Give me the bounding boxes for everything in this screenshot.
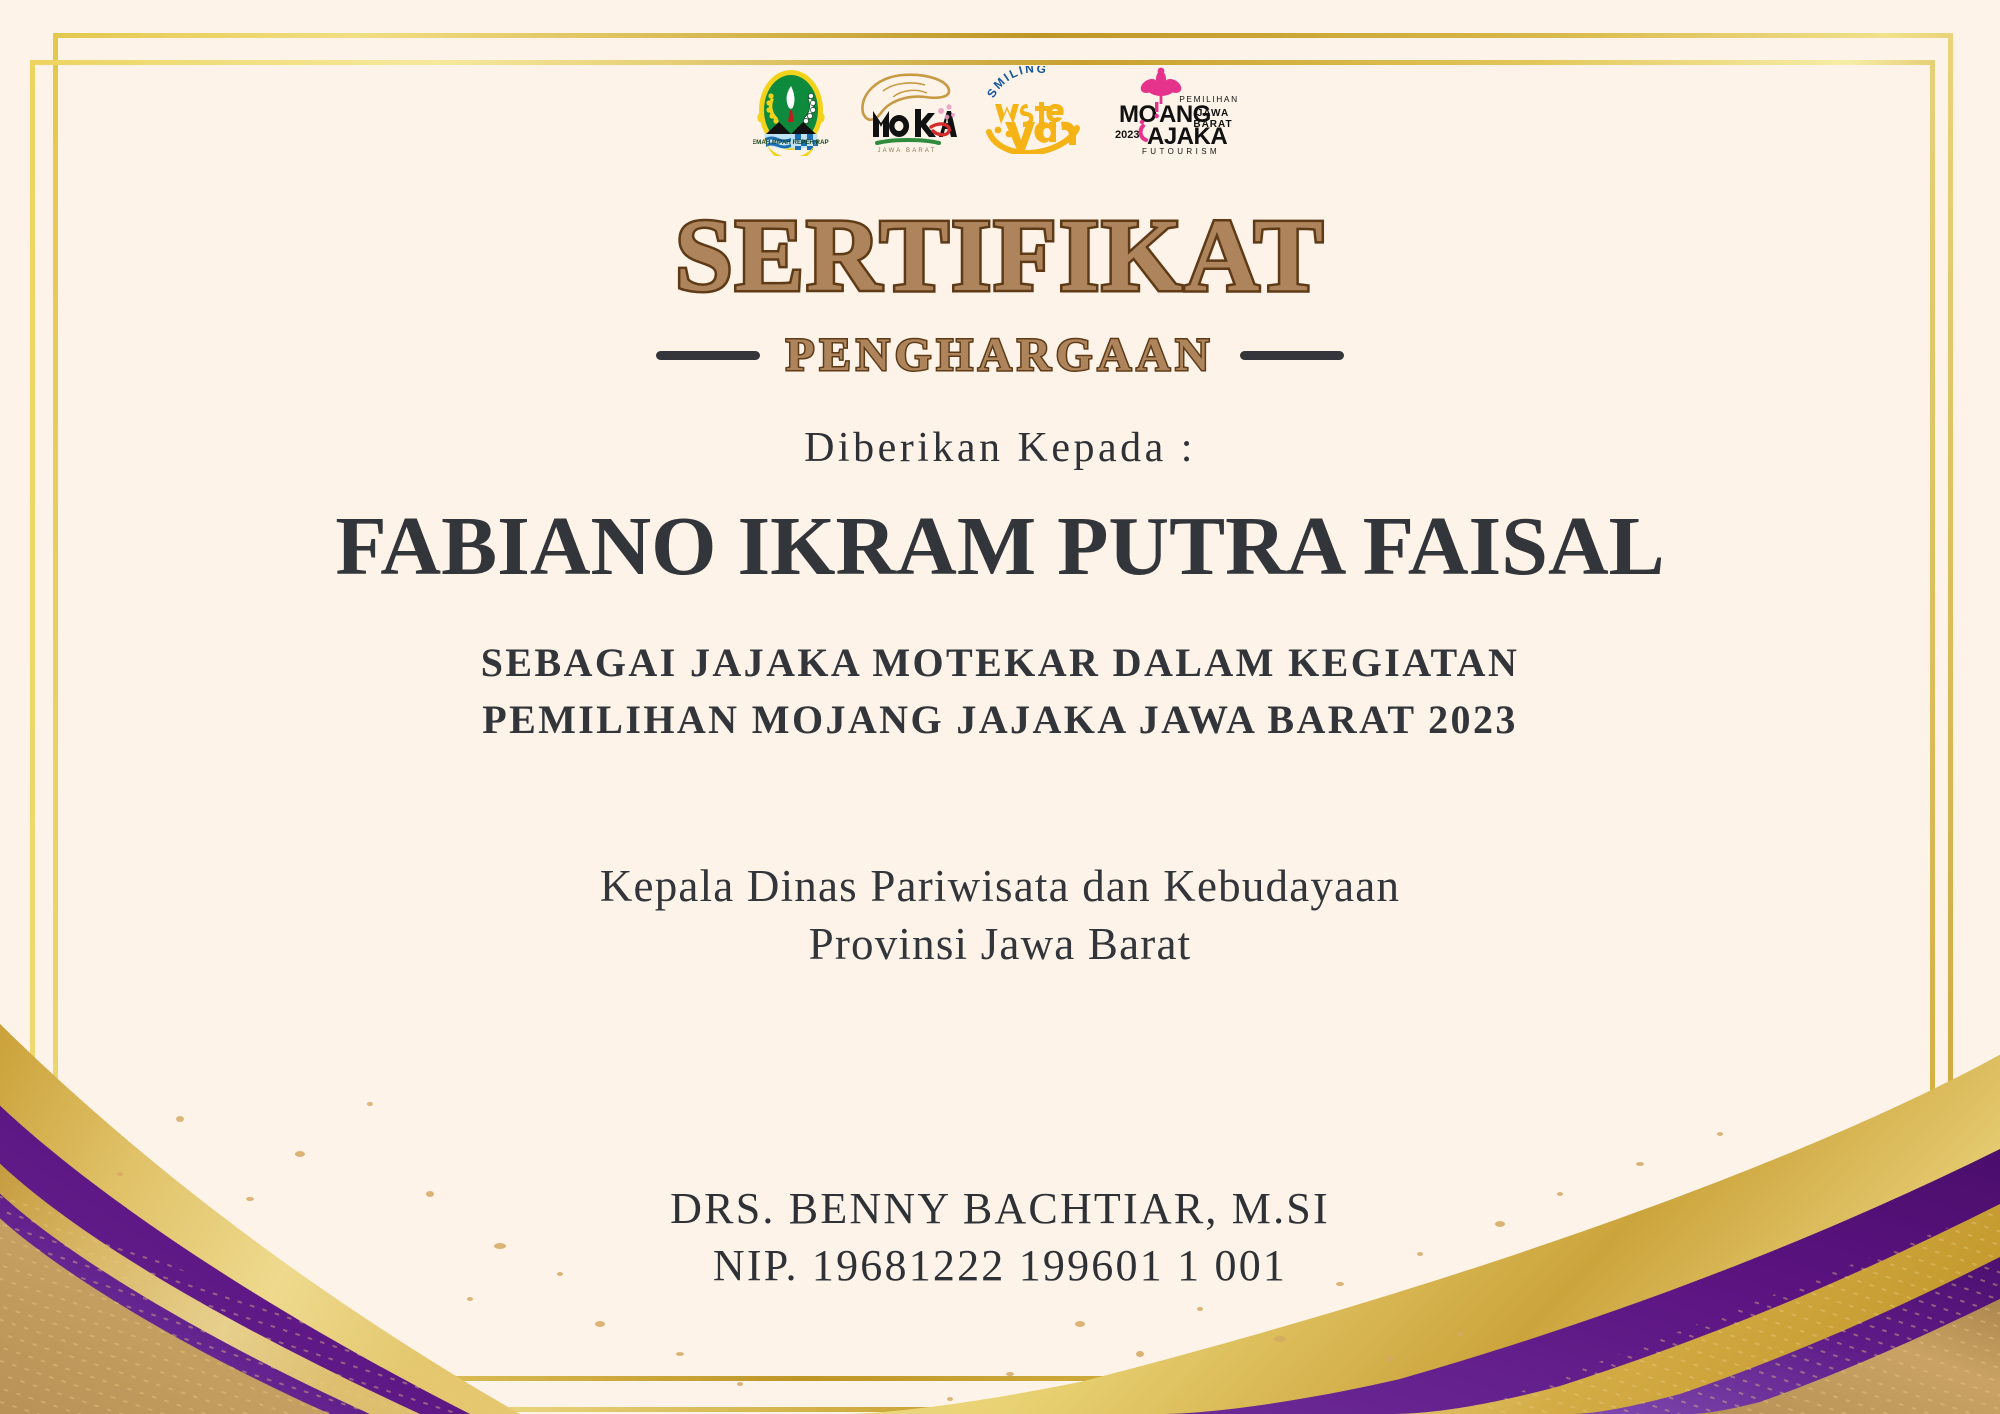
svg-text:JAWA BARAT: JAWA BARAT — [877, 148, 936, 153]
award-description-line: SEBAGAI JAJAKA MOTEKAR DALAM KEGIATAN — [481, 635, 1520, 692]
smiling-west-java-logo-icon: SMILING — [981, 66, 1085, 154]
moka-logo-icon: JAWA BARAT — [853, 67, 957, 153]
svg-text:JAWA: JAWA — [1197, 108, 1229, 119]
signing-office-line: Provinsi Jawa Barat — [600, 915, 1400, 974]
svg-text:BARAT: BARAT — [1193, 119, 1232, 130]
svg-text:FUTOURISM: FUTOURISM — [1142, 147, 1220, 156]
certificate-title: SERTIFIKAT — [675, 204, 1325, 308]
certificate-subtitle: PENGHARGAAN — [786, 328, 1214, 382]
signatory-id-number: NIP. 19681222 199601 1 001 — [670, 1237, 1330, 1294]
svg-text:PEMILIHAN: PEMILIHAN — [1179, 94, 1239, 104]
logo-row: GEMAH RIPAH REPEH RAPIH — [753, 62, 1247, 158]
svg-text:GEMAH RIPAH REPEH RAPIH: GEMAH RIPAH REPEH RAPIH — [753, 139, 829, 146]
mojang-jajaka-logo-icon: MO ANG 2023 AJAKA PEMILIHAN JAWA BARAT F… — [1109, 64, 1247, 156]
given-to-label: Diberikan Kepada : — [804, 424, 1196, 472]
certificate-canvas: GEMAH RIPAH REPEH RAPIH — [0, 0, 2000, 1414]
signing-office-line: Kepala Dinas Pariwisata dan Kebudayaan — [600, 857, 1400, 916]
recipient-name: FABIANO IKRAM PUTRA FAISAL — [335, 498, 1664, 595]
rule-left — [656, 351, 760, 360]
signatory-name: DRS. BENNY BACHTIAR, M.SI — [670, 1180, 1330, 1237]
rule-right — [1240, 351, 1344, 360]
award-description-line: PEMILIHAN MOJANG JAJAKA JAWA BARAT 2023 — [481, 692, 1520, 749]
west-java-provincial-emblem-icon: GEMAH RIPAH REPEH RAPIH — [753, 64, 829, 156]
svg-text:SMILING: SMILING — [984, 66, 1049, 100]
award-description: SEBAGAI JAJAKA MOTEKAR DALAM KEGIATAN PE… — [481, 635, 1520, 749]
signature-block: DRS. BENNY BACHTIAR, M.SI NIP. 19681222 … — [670, 1180, 1330, 1294]
svg-text:2023: 2023 — [1115, 129, 1139, 141]
signing-office: Kepala Dinas Pariwisata dan Kebudayaan P… — [600, 857, 1400, 974]
certificate-subtitle-row: PENGHARGAAN — [656, 328, 1344, 382]
